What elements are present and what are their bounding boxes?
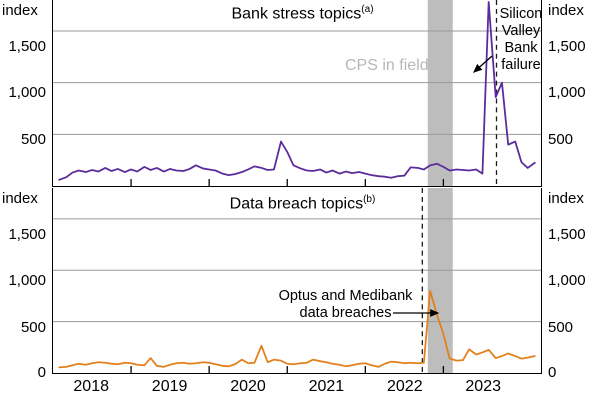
cps-in-field-label: CPS in field (345, 57, 429, 75)
ytick-bottom-right-1000: 1,000 (548, 272, 586, 289)
bank-stress-plot (53, 0, 541, 186)
panel-title-data-breach-note: (b) (363, 194, 375, 205)
ytick-bottom-right-0: 0 (548, 364, 556, 381)
xtick-2020: 2020 (208, 378, 288, 396)
xtick-2019: 2019 (130, 378, 210, 396)
panel-title-bank-stress-note: (a) (361, 4, 373, 15)
ytick-top-right-1000: 1,000 (548, 84, 586, 101)
panel-bank-stress (52, 0, 542, 187)
panel-data-breach (52, 188, 542, 374)
ytick-top-right-1500: 1,500 (548, 38, 586, 55)
panel-title-data-breach: Data breach topics(b) (0, 194, 605, 213)
ytick-top-left-1500: 1,500 (0, 38, 46, 55)
axis-unit-bottom-left: index (2, 190, 38, 207)
svb-annotation-line-2: Valley (489, 23, 553, 40)
ytick-top-left-500: 500 (0, 131, 46, 148)
ytick-top-left-1000: 1,000 (0, 84, 46, 101)
data-breach-plot (53, 188, 541, 373)
svb-annotation: Silicon Valley Bank failure (489, 6, 553, 74)
ytick-bottom-right-500: 500 (548, 319, 573, 336)
ytick-bottom-left-0: 0 (0, 364, 46, 381)
breach-annotation-line-2: data breaches (258, 305, 433, 322)
axis-unit-top-right: index (548, 2, 584, 19)
ytick-bottom-left-1500: 1,500 (0, 226, 46, 243)
ytick-bottom-left-1000: 1,000 (0, 272, 46, 289)
ytick-top-right-500: 500 (548, 131, 573, 148)
panel-title-bank-stress-text: Bank stress topics (231, 5, 361, 22)
chart-figure: Bank stress topics(a) CPS in field Silic… (0, 0, 605, 400)
xtick-2018: 2018 (51, 378, 131, 396)
xtick-2023: 2023 (443, 378, 523, 396)
axis-unit-bottom-right: index (548, 190, 584, 207)
ytick-bottom-left-500: 500 (0, 319, 46, 336)
svb-annotation-line-4: failure (489, 57, 553, 74)
svb-annotation-line-1: Silicon (489, 6, 553, 23)
axis-unit-top-left: index (2, 2, 38, 19)
breach-annotation: Optus and Medibank data breaches (258, 288, 433, 322)
breach-annotation-line-1: Optus and Medibank (258, 288, 433, 305)
panel-title-data-breach-text: Data breach topics (230, 195, 363, 212)
ytick-bottom-right-1500: 1,500 (548, 226, 586, 243)
xtick-2022: 2022 (365, 378, 445, 396)
svb-annotation-line-3: Bank (489, 40, 553, 57)
xtick-2021: 2021 (286, 378, 366, 396)
